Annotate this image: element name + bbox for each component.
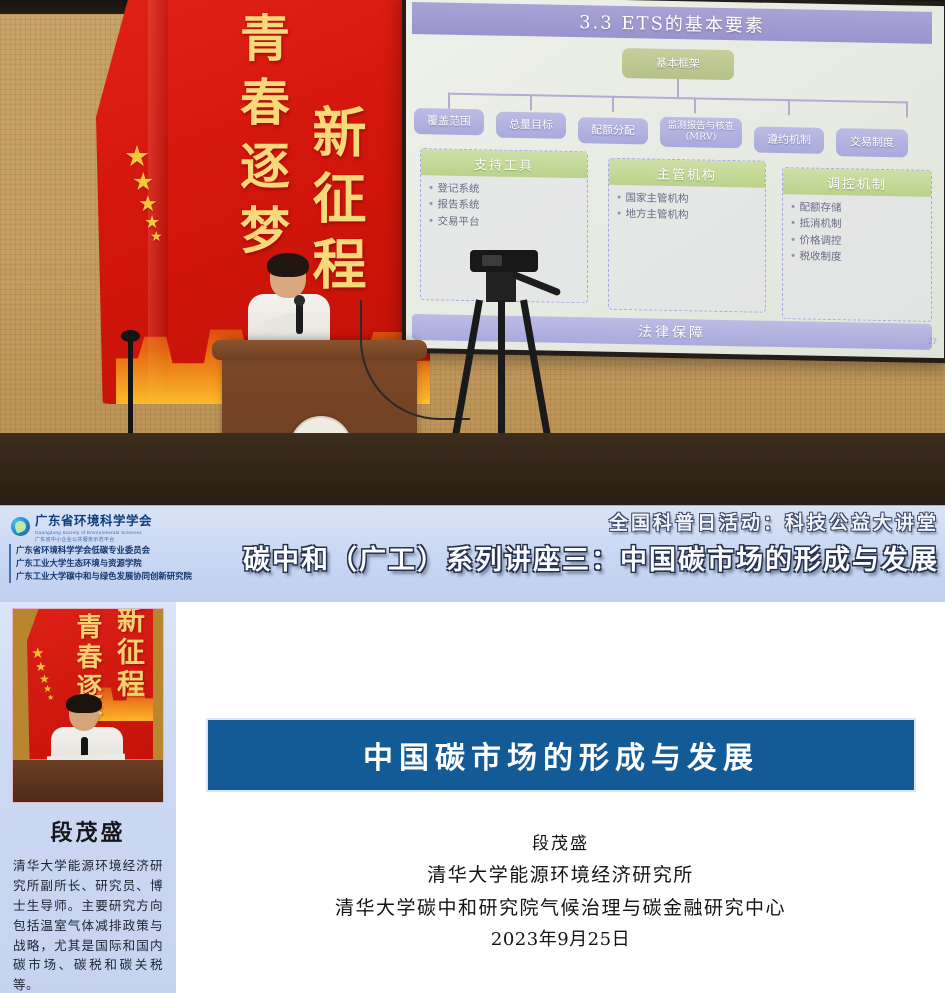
microphone-icon xyxy=(296,302,303,334)
projected-panel-authorities: 主管机构 国家主管机构 地方主管机构 xyxy=(608,158,766,313)
backdrop-stars: ★ ★ ★ ★ ★ xyxy=(114,144,163,243)
photo-backdrop-text-2: 新征程 xyxy=(109,608,149,701)
organizer-item: 广东工业大学碳中和与绿色发展协同创新研究院 xyxy=(9,570,192,583)
photo-stars: ★ ★ ★ ★ ★ xyxy=(31,647,54,702)
star-icon: ★ xyxy=(138,194,163,214)
slide-metadata: 段茂盛 清华大学能源环境经济研究所 清华大学碳中和研究院气候治理与碳金融研究中心… xyxy=(176,830,945,956)
star-icon: ★ xyxy=(47,694,54,702)
photo-speaker-hair xyxy=(66,694,102,713)
slide-title-bar: 中国碳市场的形成与发展 xyxy=(206,718,916,792)
slide-title-text: 中国碳市场的形成与发展 xyxy=(363,733,759,777)
organizer-item: 广东工业大学生态环境与资源学院 xyxy=(9,557,192,570)
lecture-video-frame: ★ ★ ★ ★ ★ 青春逐梦 新征程 3.3 ETS的基本要素 基本框架 覆盖范… xyxy=(0,0,945,505)
event-series-title: 全国科普日活动：科技公益大讲堂 xyxy=(243,508,939,535)
speaker-bio: 清华大学能源环境经济研究所副所长、研究员、博士生导师。主要研究方向包括温室气体减… xyxy=(6,856,170,993)
projected-node-mrv: 监测报告与核查(MRV) xyxy=(660,117,742,149)
organizer-item: 广东省环境科学学会低碳专业委员会 xyxy=(9,544,192,557)
projected-node-allocation: 配额分配 xyxy=(578,117,648,144)
society-name: 广东省环境科学学会 xyxy=(35,510,152,529)
projected-node-root: 基本框架 xyxy=(622,48,734,80)
backdrop-text-line1: 青春逐梦 xyxy=(236,12,286,268)
speaker-photo: ★ ★ ★ ★ ★ 青春逐梦 新征程 xyxy=(12,608,164,803)
speaker-name: 段茂盛 xyxy=(6,815,170,847)
society-name-en: Guangdong Society of Environmental Scien… xyxy=(35,530,152,535)
projected-slide-page-number: 27 xyxy=(928,337,937,346)
connector-line xyxy=(788,99,790,115)
banner-title-group: 全国科普日活动：科技公益大讲堂 碳中和（广工）系列讲座三：中国碳市场的形成与发展 xyxy=(243,508,939,577)
panel-header: 支持工具 xyxy=(421,149,587,178)
slide-affiliation-1: 清华大学能源环境经济研究所 xyxy=(176,859,945,892)
connector-line xyxy=(677,79,679,97)
projected-node-compliance: 遵约机制 xyxy=(754,127,824,154)
connector-line xyxy=(694,97,696,113)
event-banner: 广东省环境科学学会 Guangdong Society of Environme… xyxy=(0,505,945,602)
projected-node-trading: 交易制度 xyxy=(836,128,908,157)
panel-header: 主管机构 xyxy=(609,159,765,188)
connector-line xyxy=(906,101,908,117)
speaker-sidebar: ★ ★ ★ ★ ★ 青春逐梦 新征程 段茂盛 清华大学能源环境经济研究所副所长、… xyxy=(0,602,176,993)
connector-line xyxy=(612,96,614,112)
panel-item: 地方主管机构 xyxy=(616,206,761,225)
video-camera-icon xyxy=(470,250,538,272)
society-logo-icon xyxy=(11,517,30,536)
slide-author: 段茂盛 xyxy=(176,830,945,859)
slide-date: 2023年9月25日 xyxy=(176,925,945,956)
connector-line xyxy=(530,94,532,110)
content-area: ★ ★ ★ ★ ★ 青春逐梦 新征程 段茂盛 清华大学能源环境经济研究所副所长、… xyxy=(0,602,945,993)
hall-floor xyxy=(0,433,945,505)
panel-item: 税收制度 xyxy=(790,248,927,267)
presentation-slide: 中国碳市场的形成与发展 段茂盛 清华大学能源环境经济研究所 清华大学碳中和研究院… xyxy=(176,602,945,993)
slide-affiliation-2: 清华大学碳中和研究院气候治理与碳金融研究中心 xyxy=(176,892,945,925)
panel-item-list: 国家主管机构 地方主管机构 xyxy=(609,185,765,226)
organizer-list: 广东省环境科学学会低碳专业委员会 广东工业大学生态环境与资源学院 广东工业大学碳… xyxy=(9,544,192,583)
projected-slide-title: 3.3 ETS的基本要素 xyxy=(412,2,932,44)
star-icon: ★ xyxy=(150,230,163,243)
projected-panel-regulation: 调控机制 配额存储 抵消机制 价格调控 税收制度 xyxy=(782,167,932,322)
connector-line xyxy=(448,93,450,109)
projected-node-scope: 覆盖范围 xyxy=(414,108,484,135)
photo-lectern xyxy=(13,760,164,802)
panel-header: 调控机制 xyxy=(783,168,931,197)
society-logo: 广东省环境科学学会 Guangdong Society of Environme… xyxy=(11,510,152,543)
panel-item-list: 配额存储 抵消机制 价格调控 税收制度 xyxy=(783,194,931,267)
panel-item: 交易平台 xyxy=(428,213,583,232)
star-icon: ★ xyxy=(124,144,163,171)
society-subtitle: 广东省中小企业公共服务示范平台 xyxy=(35,536,152,543)
tripod-pan-handle xyxy=(511,271,562,297)
projected-node-cap: 总量目标 xyxy=(496,112,566,139)
speaker-hair xyxy=(267,253,309,277)
panel-item-list: 登记系统 报告系统 交易平台 xyxy=(421,175,587,232)
panel-item: 抵消机制 xyxy=(790,215,927,234)
lecture-title: 碳中和（广工）系列讲座三：中国碳市场的形成与发展 xyxy=(243,538,939,577)
